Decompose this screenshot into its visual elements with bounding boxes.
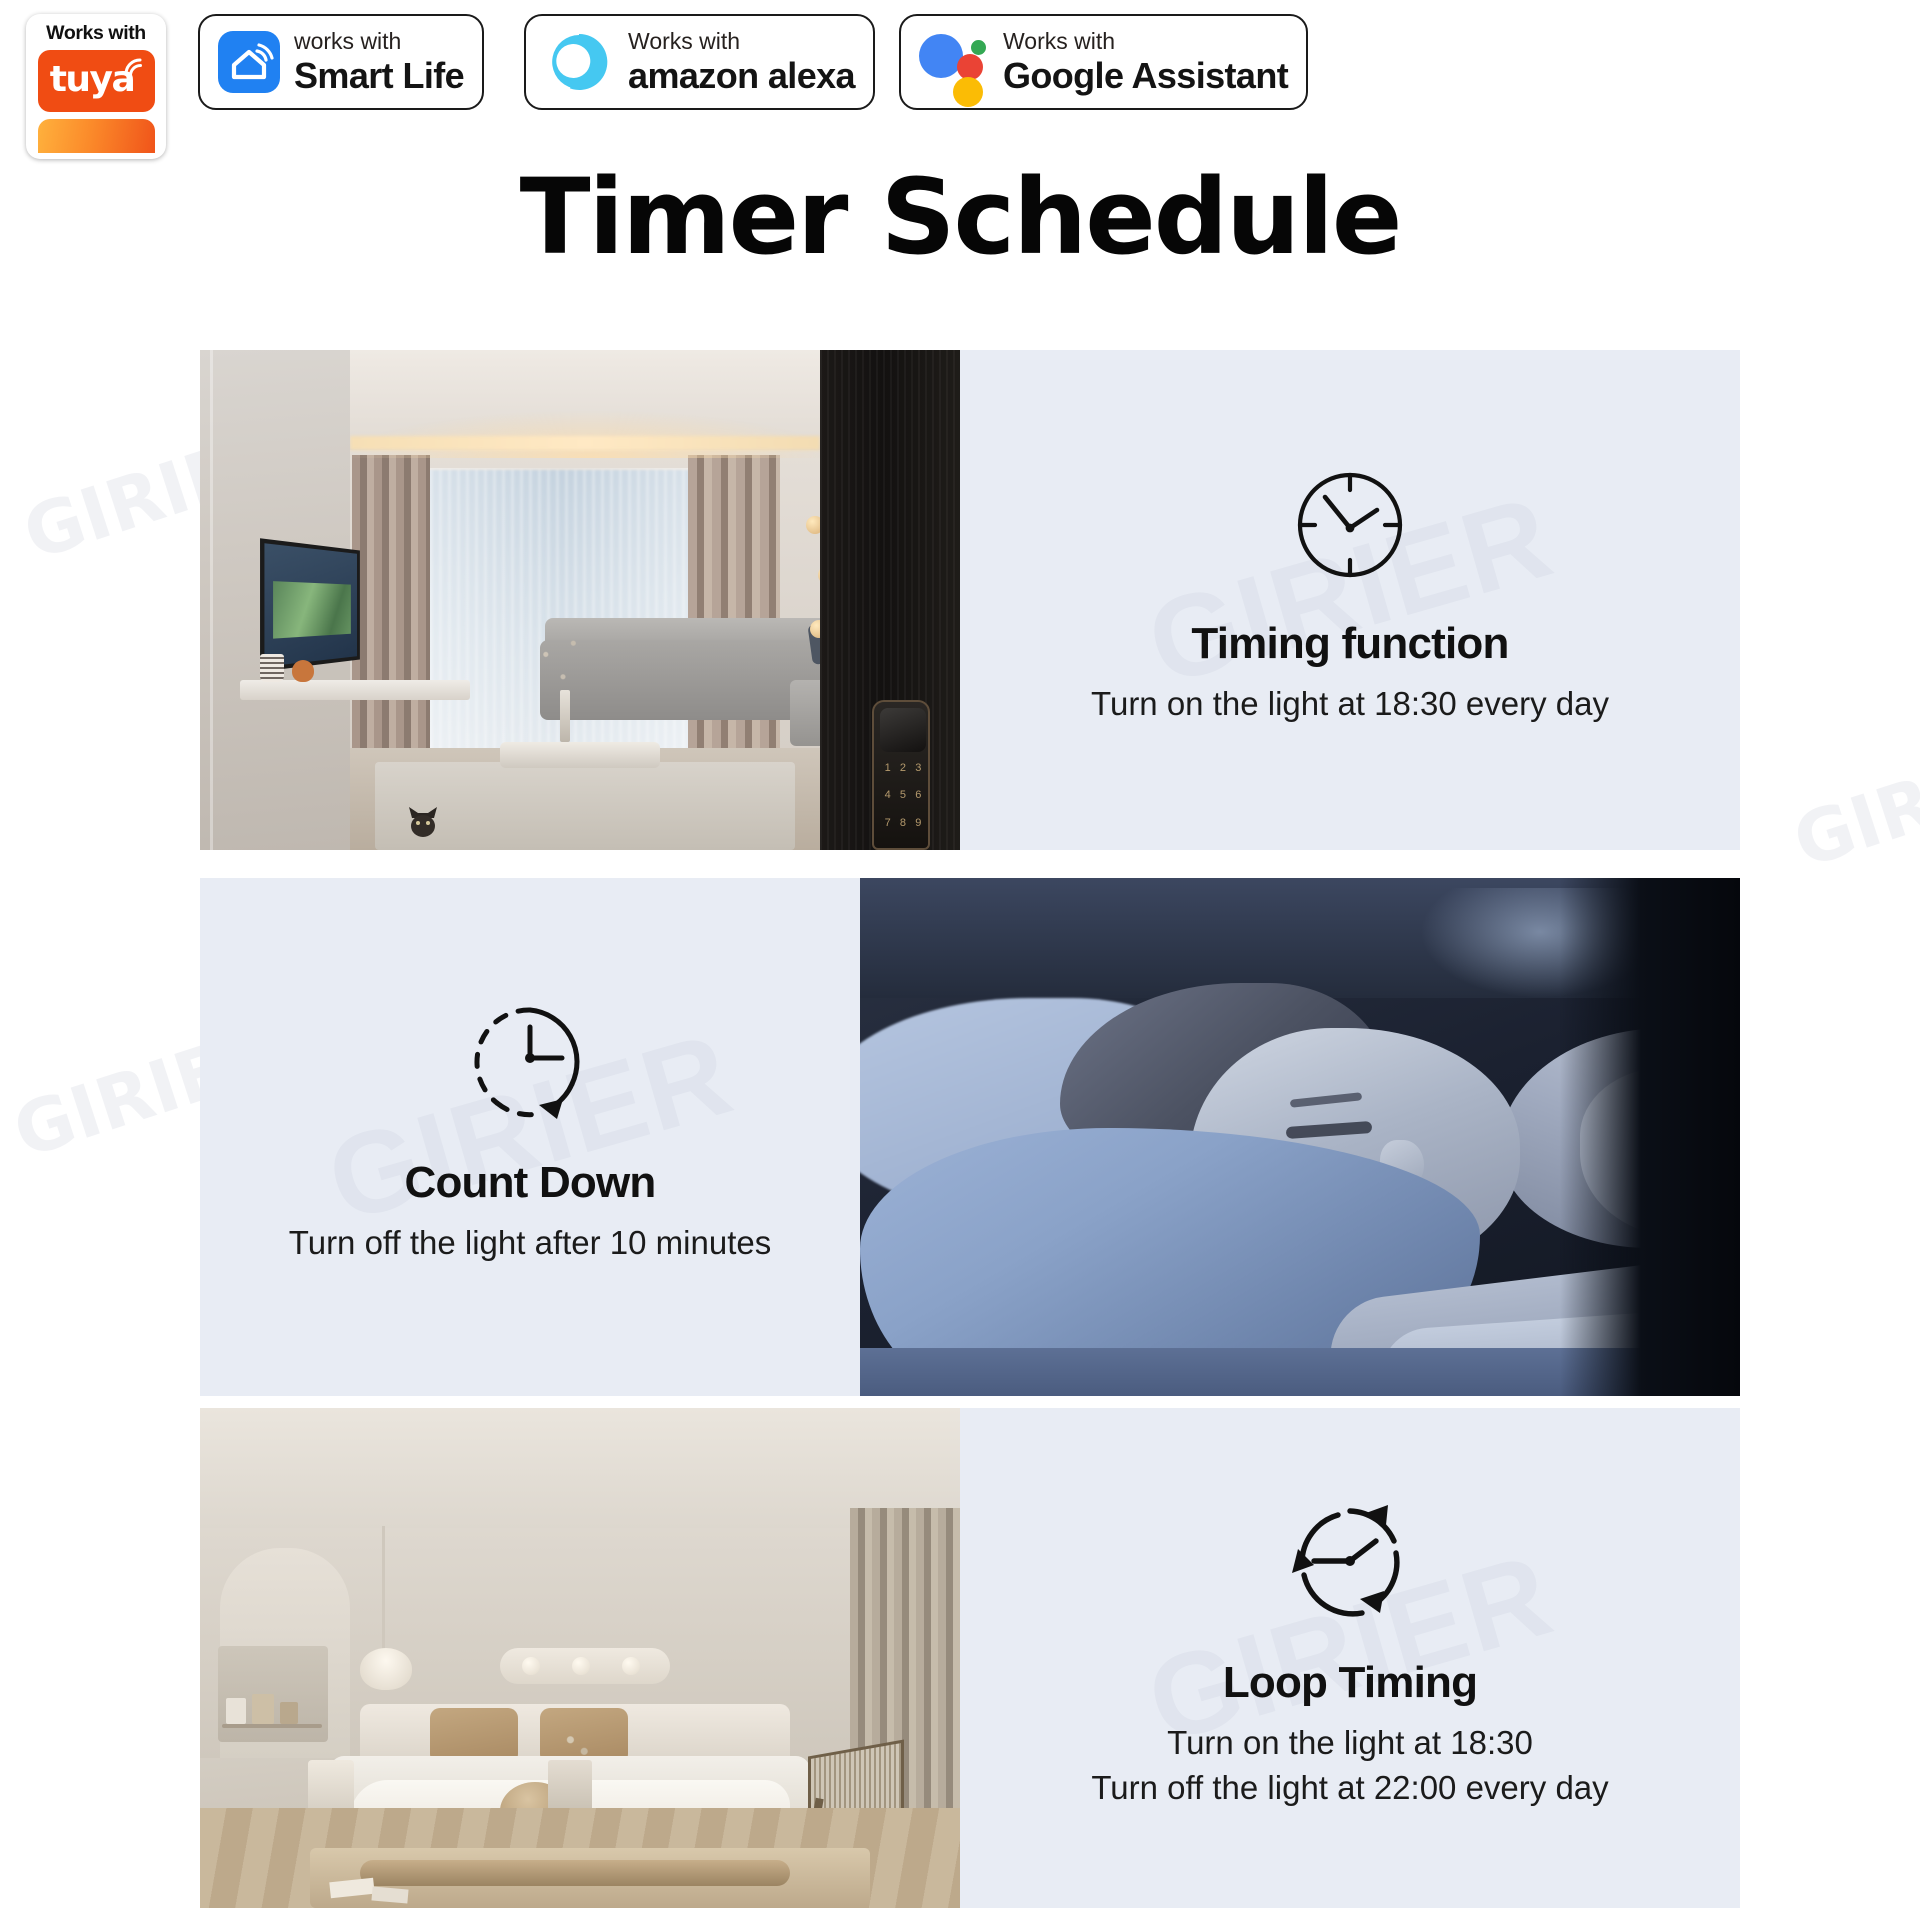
card-description-line-2: Turn off the light at 22:00 every day xyxy=(1091,1767,1608,1809)
badge-works-with-tuya: Works with tuya xyxy=(26,14,166,159)
loop-timing-panel: GIRIER Loop Timing Turn on the light at … xyxy=(960,1408,1740,1908)
tuya-logo-plate: tuya xyxy=(38,50,155,112)
led-strip-lights xyxy=(500,1648,670,1684)
smart-door-lock: 123 456 789 xyxy=(872,700,930,850)
badge-alexa-big-label: amazon alexa xyxy=(628,55,855,96)
card-description: Turn on the light at 18:30 every day xyxy=(1091,683,1609,725)
google-assistant-dots-icon xyxy=(919,31,989,93)
living-room-photo: 123 456 789 xyxy=(200,350,960,850)
tuya-gradient-strip xyxy=(38,119,155,153)
sleeping-woman-photo xyxy=(860,878,1740,1396)
feature-card-timing-function: 123 456 789 GIRIER xyxy=(200,350,1740,850)
ga-yellow-dot-icon xyxy=(953,77,983,107)
badge-smart-life-big-label: Smart Life xyxy=(294,55,464,96)
badge-works-with-smart-life: works with Smart Life xyxy=(198,14,484,110)
loop-timing-icon xyxy=(1288,1499,1412,1628)
card-title: Loop Timing xyxy=(1223,1658,1477,1708)
badge-tuya-top-label: Works with xyxy=(46,23,146,44)
analog-clock-icon xyxy=(1291,466,1409,589)
badge-google-small-label: Works with xyxy=(1003,28,1288,54)
background-watermark: GIRIER xyxy=(1784,720,1920,884)
badge-google-big-label: Google Assistant xyxy=(1003,55,1288,96)
card-title: Count Down xyxy=(404,1158,655,1208)
badge-smart-life-small-label: works with xyxy=(294,28,464,54)
infographic-page: Works with tuya works with xyxy=(0,0,1920,1920)
ga-green-dot-icon xyxy=(971,40,986,55)
badge-works-with-google-assistant: Works with Google Assistant xyxy=(899,14,1308,110)
compatibility-badge-row: Works with tuya works with xyxy=(26,14,1626,164)
countdown-clock-icon xyxy=(469,1001,591,1128)
badge-works-with-amazon-alexa: Works with amazon alexa xyxy=(524,14,875,110)
page-title: Timer Schedule xyxy=(0,160,1920,274)
card-description-line-1: Turn on the light at 18:30 xyxy=(1167,1722,1533,1764)
card-description: Turn off the light after 10 minutes xyxy=(289,1222,771,1264)
card-title: Timing function xyxy=(1191,619,1508,669)
feature-card-count-down: GIRIER Count Down Turn off the light aft… xyxy=(200,878,1740,1396)
feature-card-loop-timing: GIRIER Loop Timing Turn on the light at … xyxy=(200,1408,1740,1908)
badge-alexa-small-label: Works with xyxy=(628,28,855,54)
alexa-ring-icon xyxy=(544,27,614,97)
smart-life-house-icon xyxy=(218,31,280,93)
wifi-arc-icon xyxy=(123,57,149,83)
count-down-panel: GIRIER Count Down Turn off the light aft… xyxy=(200,878,860,1396)
ga-red-dot-icon xyxy=(957,54,983,80)
cat-icon xyxy=(406,802,440,842)
timing-function-panel: GIRIER Timing function Turn on the light… xyxy=(960,350,1740,850)
bedroom-photo xyxy=(200,1408,960,1908)
ga-blue-dot-icon xyxy=(919,34,963,78)
